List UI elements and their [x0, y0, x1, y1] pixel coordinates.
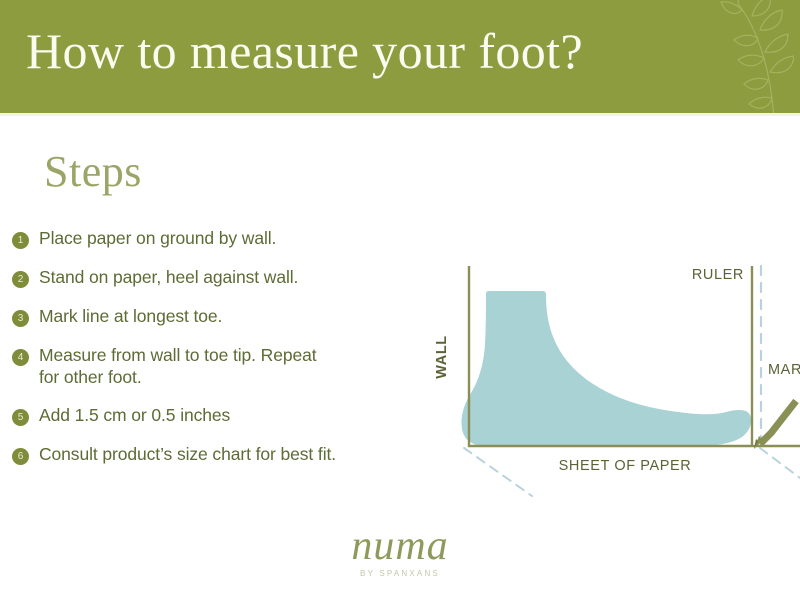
- step-number-badge: 4: [12, 349, 29, 366]
- list-item: 6 Consult product’s size chart for best …: [12, 444, 432, 466]
- list-item: 1 Place paper on ground by wall.: [12, 228, 432, 250]
- step-text: Stand on paper, heel against wall.: [39, 267, 432, 289]
- leafy-branch-icon: [702, 0, 794, 113]
- list-item: 3 Mark line at longest toe.: [12, 306, 432, 328]
- dashed-guide-right: [760, 448, 800, 478]
- step-text: Consult product’s size chart for best fi…: [39, 444, 339, 466]
- step-text: Place paper on ground by wall.: [39, 228, 432, 250]
- step-text: Add 1.5 cm or 0.5 inches: [39, 405, 432, 427]
- step-text: Measure from wall to toe tip. Repeat for…: [39, 345, 339, 389]
- ruler-label: RULER: [692, 267, 744, 283]
- dashed-guide-left: [464, 448, 532, 496]
- page-header: How to measure your foot?: [0, 0, 800, 113]
- step-number-badge: 2: [12, 271, 29, 288]
- foot-measurement-diagram: WALL SHEET OF PAPER RULER MARK: [430, 252, 800, 502]
- steps-list: 1 Place paper on ground by wall. 2 Stand…: [12, 228, 432, 483]
- step-number-badge: 1: [12, 232, 29, 249]
- mark-label: MARK: [768, 362, 800, 378]
- step-number-badge: 6: [12, 448, 29, 465]
- step-text: Mark line at longest toe.: [39, 306, 432, 328]
- brand-logo: numa BY SPANXANS: [0, 524, 800, 578]
- step-number-badge: 3: [12, 310, 29, 327]
- list-item: 2 Stand on paper, heel against wall.: [12, 267, 432, 289]
- steps-heading: Steps: [44, 148, 142, 196]
- logo-tagline: BY SPANXANS: [0, 569, 800, 578]
- page-title: How to measure your foot?: [26, 23, 583, 81]
- logo-wordmark: numa: [0, 524, 800, 568]
- sheet-of-paper-label: SHEET OF PAPER: [559, 458, 692, 474]
- header-divider: [0, 113, 800, 116]
- wall-label: WALL: [434, 335, 450, 378]
- list-item: 5 Add 1.5 cm or 0.5 inches: [12, 405, 432, 427]
- list-item: 4 Measure from wall to toe tip. Repeat f…: [12, 345, 432, 389]
- step-number-badge: 5: [12, 409, 29, 426]
- foot-silhouette-icon: [461, 291, 751, 446]
